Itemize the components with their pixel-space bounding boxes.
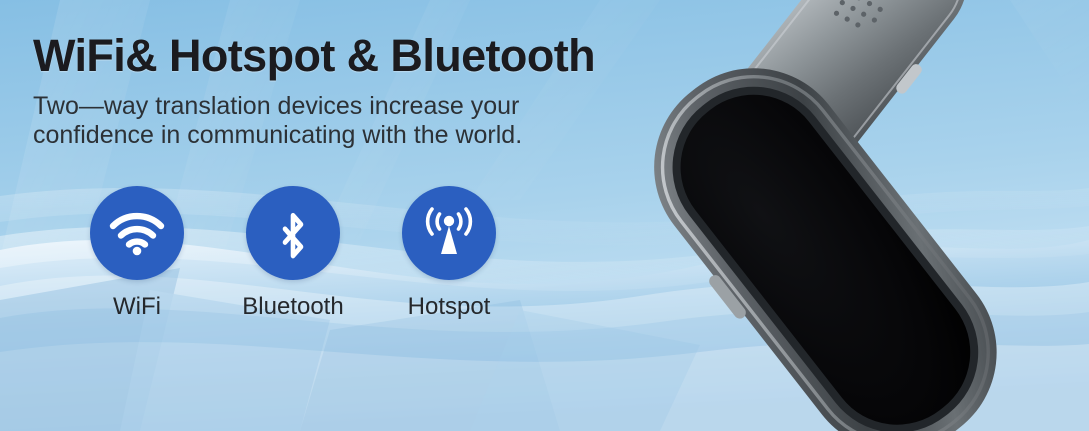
page-title: WiFi& Hotspot & Bluetooth xyxy=(33,30,595,82)
feature-bluetooth[interactable]: Bluetooth xyxy=(238,186,348,321)
feature-wifi[interactable]: WiFi xyxy=(82,186,192,321)
bluetooth-icon xyxy=(274,205,312,261)
wifi-icon xyxy=(108,210,166,256)
wifi-icon-badge xyxy=(90,186,184,280)
feature-label: WiFi xyxy=(113,293,161,321)
feature-label: Hotspot xyxy=(408,293,491,321)
device-illustration xyxy=(600,0,1089,431)
hotspot-antenna-icon xyxy=(421,206,477,260)
feature-label: Bluetooth xyxy=(242,293,343,321)
device-photo: 3:44 PM xyxy=(600,0,1089,431)
hotspot-icon-badge xyxy=(402,186,496,280)
feature-list: WiFi Bluetooth xyxy=(82,186,504,321)
page-subtitle: Two—way translation devices increase you… xyxy=(33,92,573,150)
promo-banner: WiFi& Hotspot & Bluetooth Two—way transl… xyxy=(0,0,1089,431)
feature-hotspot[interactable]: Hotspot xyxy=(394,186,504,321)
bluetooth-icon-badge xyxy=(246,186,340,280)
